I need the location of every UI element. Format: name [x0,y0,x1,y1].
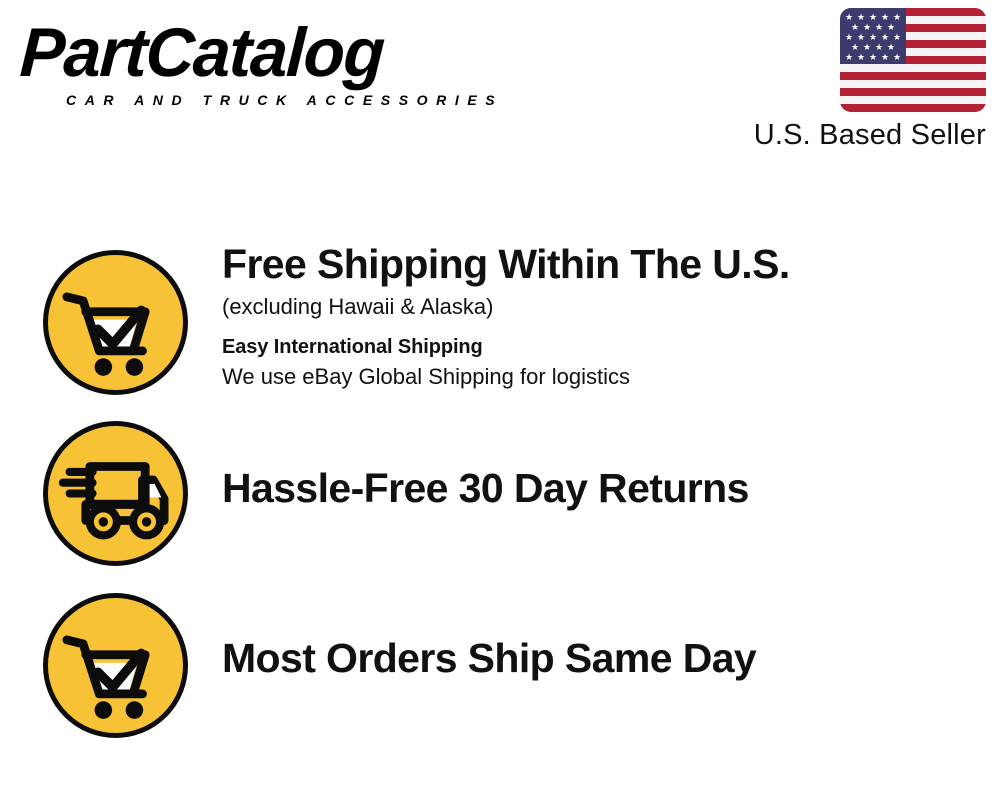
flag-star: ★ [875,23,883,32]
flag-star: ★ [845,13,853,22]
flag-star: ★ [863,23,871,32]
flag-star: ★ [869,13,877,22]
brand-tagline: CAR AND TRUCK ACCESSORIES [66,92,503,108]
flag-stripe [840,80,986,88]
feature-heading: Free Shipping Within The U.S. [222,240,990,288]
flag-star: ★ [851,43,859,52]
feature-heading: Most Orders Ship Same Day [222,634,990,682]
flag-star: ★ [887,23,895,32]
delivery-truck-icon [43,421,188,566]
page-header: PartCatalog CAR AND TRUCK ACCESSORIES ★ … [0,0,1000,170]
feature-text-same-day: Most Orders Ship Same Day [222,634,990,682]
flag-star: ★ [893,13,901,22]
feature-text-free-shipping: Free Shipping Within The U.S. (excluding… [222,240,990,392]
flag-star: ★ [881,53,889,62]
flag-star: ★ [881,13,889,22]
feature-heading: Hassle-Free 30 Day Returns [222,464,990,512]
feature-row-same-day: Most Orders Ship Same Day [0,584,1000,746]
flag-stripe [840,72,986,80]
flag-star: ★ [875,43,883,52]
flag-star: ★ [869,33,877,42]
flag-star: ★ [881,33,889,42]
cart-check-icon [43,593,188,738]
flag-star: ★ [887,43,895,52]
us-flag-icon: ★ ★ ★ ★ ★ ★ ★ ★ ★ ★ ★ ★ ★ ★ ★ ★ ★ ★ ★ ★ … [840,8,986,112]
flag-star: ★ [857,33,865,42]
us-based-seller-label: U.S. Based Seller [754,118,986,152]
feature-exclusion-note: (excluding Hawaii & Alaska) [222,292,990,322]
flag-star: ★ [845,33,853,42]
flag-star: ★ [863,43,871,52]
flag-stripe [840,104,986,112]
feature-row-free-shipping: Free Shipping Within The U.S. (excluding… [0,240,1000,410]
feature-text-returns: Hassle-Free 30 Day Returns [222,464,990,512]
flag-star: ★ [893,53,901,62]
flag-star: ★ [857,53,865,62]
flag-stripe [840,64,986,72]
flag-star: ★ [851,23,859,32]
flag-stripe [840,96,986,104]
flag-star: ★ [845,53,853,62]
brand-wordmark: PartCatalog [18,18,482,88]
flag-star: ★ [869,53,877,62]
feature-row-returns: Hassle-Free 30 Day Returns [0,412,1000,574]
flag-star: ★ [893,33,901,42]
feature-subheading: Easy International Shipping [222,332,990,362]
flag-star: ★ [857,13,865,22]
flag-stripe [840,88,986,96]
flag-canton: ★ ★ ★ ★ ★ ★ ★ ★ ★ ★ ★ ★ ★ ★ ★ ★ ★ ★ ★ ★ … [840,8,906,64]
cart-check-icon [43,250,188,395]
feature-subtext: We use eBay Global Shipping for logistic… [222,362,990,392]
brand-logo[interactable]: PartCatalog CAR AND TRUCK ACCESSORIES [22,18,492,113]
